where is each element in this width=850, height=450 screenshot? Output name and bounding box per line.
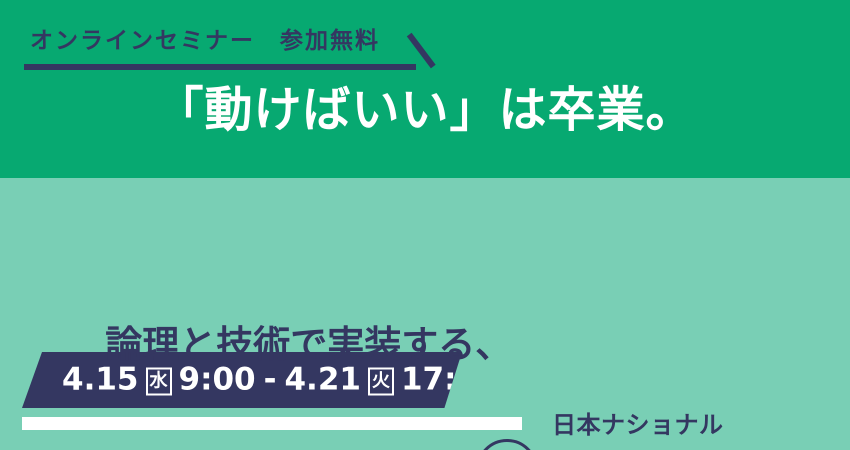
start-day-of-week: 水 xyxy=(146,367,172,395)
schedule-text: 4.15 水 9:00 - 4.21 火 17:00 xyxy=(62,365,500,396)
kicker-underline xyxy=(24,64,416,70)
seminar-promo-banner: オンラインセミナー 参加無料 「動けばいい」は卒業。 論理と技術で実装する、 プ… xyxy=(0,0,850,450)
subtitle-highlight-1 xyxy=(22,417,522,430)
kicker-label: オンラインセミナー 参加無料 xyxy=(30,30,380,53)
end-date: 4.21 xyxy=(284,365,361,396)
start-time: 9:00 xyxy=(179,365,256,396)
sponsor-name-line-1: 日本ナショナル xyxy=(552,410,846,440)
start-date: 4.15 xyxy=(62,365,139,396)
sponsor-group: 共催 日本ナショナル インスツルメンツ株式会社 xyxy=(476,350,846,450)
kicker-group: オンラインセミナー 参加無料 xyxy=(0,16,850,64)
end-day-of-week: 火 xyxy=(368,367,394,395)
cohost-badge: 共催 xyxy=(476,439,538,450)
sponsor-name: 日本ナショナル インスツルメンツ株式会社 xyxy=(552,350,846,450)
schedule-separator: - xyxy=(264,365,277,396)
arrow-flick-icon xyxy=(408,38,434,70)
page-title: 「動けばいい」は卒業。 xyxy=(0,80,850,140)
